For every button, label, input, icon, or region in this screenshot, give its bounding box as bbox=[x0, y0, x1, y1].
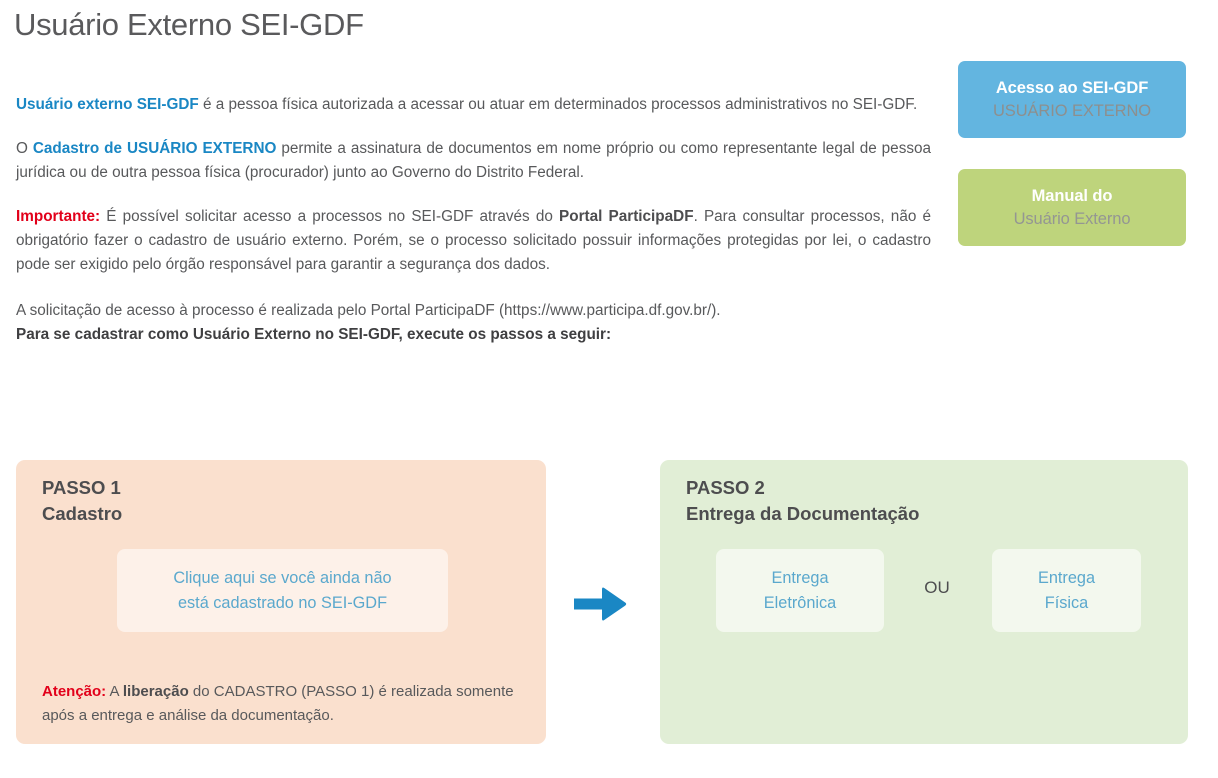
cta-acesso-sei-gdf-button[interactable]: Acesso ao SEI-GDF USUÁRIO EXTERNO bbox=[958, 61, 1186, 138]
importante-label: Importante: bbox=[16, 208, 100, 225]
cadastro-link-label: Clique aqui se você ainda não está cadas… bbox=[173, 566, 391, 616]
importante-part1: É possível solicitar acesso a processos … bbox=[100, 208, 559, 225]
paragraph-cadastro: O Cadastro de USUÁRIO EXTERNO permite a … bbox=[16, 137, 931, 185]
importante-portal-bold: Portal ParticipaDF bbox=[559, 208, 694, 225]
entrega-separator-ou: OU bbox=[901, 578, 973, 598]
step-1-heading-line1: PASSO 1 bbox=[42, 475, 122, 501]
entrega-eletronica-label: Entrega Eletrônica bbox=[764, 566, 836, 616]
paragraph-participadf-url: A solicitação de acesso à processo é rea… bbox=[16, 299, 931, 323]
cta-acesso-line2: USUÁRIO EXTERNO bbox=[958, 100, 1186, 123]
entrega-fisica-line2: Física bbox=[1038, 591, 1095, 616]
arrow-right-icon bbox=[572, 583, 628, 625]
entrega-eletronica-button[interactable]: Entrega Eletrônica bbox=[716, 549, 884, 632]
entrega-eletronica-line1: Entrega bbox=[764, 566, 836, 591]
entrega-fisica-label: Entrega Física bbox=[1038, 566, 1095, 616]
paragraph-cadastro-prefix: O bbox=[16, 140, 33, 157]
step-1-panel: PASSO 1 Cadastro Clique aqui se você ain… bbox=[16, 460, 546, 744]
paragraph-definition-bold: Usuário externo SEI-GDF bbox=[16, 96, 199, 113]
step-2-heading-line2: Entrega da Documentação bbox=[686, 501, 919, 527]
cadastro-link-button[interactable]: Clique aqui se você ainda não está cadas… bbox=[117, 549, 448, 632]
intro-text-column: Usuário externo SEI-GDF é a pessoa físic… bbox=[16, 93, 931, 347]
step-1-heading: PASSO 1 Cadastro bbox=[42, 475, 122, 527]
step-1-heading-line2: Cadastro bbox=[42, 501, 122, 527]
entrega-fisica-line1: Entrega bbox=[1038, 566, 1095, 591]
cta-acesso-line1: Acesso ao SEI-GDF bbox=[958, 77, 1186, 100]
cta-manual-line2: Usuário Externo bbox=[958, 208, 1186, 231]
step-2-heading-line1: PASSO 2 bbox=[686, 475, 919, 501]
step-2-heading: PASSO 2 Entrega da Documentação bbox=[686, 475, 919, 527]
entrega-fisica-button[interactable]: Entrega Física bbox=[992, 549, 1141, 632]
paragraph-definition: Usuário externo SEI-GDF é a pessoa físic… bbox=[16, 93, 931, 117]
paragraph-instruction: Para se cadastrar como Usuário Externo n… bbox=[16, 323, 931, 347]
entrega-eletronica-line2: Eletrônica bbox=[764, 591, 836, 616]
page-title: Usuário Externo SEI-GDF bbox=[14, 7, 364, 43]
cta-manual-usuario-externo-button[interactable]: Manual do Usuário Externo bbox=[958, 169, 1186, 246]
atencao-bold: liberação bbox=[123, 683, 189, 700]
paragraph-definition-rest: é a pessoa física autorizada a acessar o… bbox=[199, 96, 917, 113]
paragraph-cadastro-bold: Cadastro de USUÁRIO EXTERNO bbox=[33, 140, 277, 157]
paragraph-importante: Importante: É possível solicitar acesso … bbox=[16, 205, 931, 277]
cadastro-link-line2: está cadastrado no SEI-GDF bbox=[173, 591, 391, 616]
cta-manual-line1: Manual do bbox=[958, 185, 1186, 208]
step-1-atencao-note: Atenção: A liberação do CADASTRO (PASSO … bbox=[42, 680, 542, 728]
step-2-panel: PASSO 2 Entrega da Documentação Entrega … bbox=[660, 460, 1188, 744]
atencao-part1: A bbox=[106, 683, 123, 700]
cadastro-link-line1: Clique aqui se você ainda não bbox=[173, 566, 391, 591]
atencao-label: Atenção: bbox=[42, 683, 106, 700]
